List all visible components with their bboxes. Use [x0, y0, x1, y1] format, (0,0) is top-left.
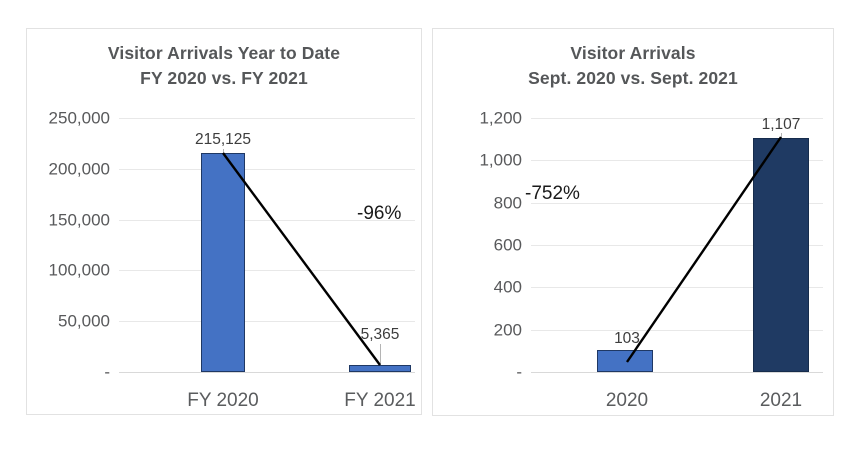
xtick-label-fy-2021: FY 2021	[344, 391, 415, 410]
ytick-label-200: 200	[494, 322, 522, 339]
axis-baseline-ytd	[119, 372, 415, 373]
axis-baseline-monthly	[531, 372, 823, 373]
chart-title-ytd: Visitor Arrivals Year to Date FY 2020 vs…	[27, 41, 421, 91]
xtick-label-2020: 2020	[606, 391, 648, 410]
xtick-label-fy-2020: FY 2020	[187, 391, 258, 410]
chart-panel-ytd: Visitor Arrivals Year to Date FY 2020 vs…	[26, 28, 422, 415]
xtick-label-2021: 2021	[760, 391, 802, 410]
ytick-label-800: 800	[494, 195, 522, 212]
bar-fy-2020[interactable]	[201, 153, 245, 372]
ytick-label-200000: 200,000	[49, 161, 110, 178]
gridline-250000	[119, 118, 415, 119]
ytick-label-1200: 1,200	[479, 110, 522, 127]
ytick-label-600: 600	[494, 237, 522, 254]
chart-title-ytd-line2: FY 2020 vs. FY 2021	[27, 66, 421, 91]
bar-value-label-sept-2021: 1,107	[762, 117, 801, 133]
percent-change-callout-monthly: -752%	[525, 184, 580, 203]
plot-area-ytd: 250,000 200,000 150,000 100,000 50,000 -…	[119, 118, 415, 372]
chart-panel-monthly: Visitor Arrivals Sept. 2020 vs. Sept. 20…	[432, 28, 834, 416]
ytick-label-400: 400	[494, 279, 522, 296]
percent-change-callout-ytd: -96%	[357, 204, 401, 223]
gridline-50000	[119, 321, 415, 322]
leader-line-fy-2020	[223, 149, 224, 154]
bar-fy-2021[interactable]	[349, 365, 411, 372]
chart-title-monthly: Visitor Arrivals Sept. 2020 vs. Sept. 20…	[433, 41, 833, 91]
ytick-label-150000: 150,000	[49, 212, 110, 229]
ytick-label-250000: 250,000	[49, 110, 110, 127]
ytick-label-1000: 1,000	[479, 152, 522, 169]
plot-area-monthly: 1,200 1,000 800 600 400 200 - 103 1,107 …	[531, 118, 823, 372]
chart-title-monthly-line2: Sept. 2020 vs. Sept. 2021	[433, 66, 833, 91]
bar-sept-2021[interactable]	[753, 138, 809, 372]
bar-sept-2020[interactable]	[597, 350, 653, 372]
gridline-100000	[119, 270, 415, 271]
ytick-label-50000: 50,000	[58, 313, 110, 330]
bar-value-label-sept-2020: 103	[614, 331, 640, 347]
bar-value-label-fy-2021: 5,365	[361, 327, 400, 343]
ytick-label-zero-monthly: -	[516, 364, 522, 381]
figure-canvas: Visitor Arrivals Year to Date FY 2020 vs…	[0, 0, 856, 453]
bar-value-label-fy-2020: 215,125	[195, 132, 251, 148]
leader-line-fy-2021	[380, 344, 381, 365]
ytick-label-100000: 100,000	[49, 262, 110, 279]
gridline-200000	[119, 169, 415, 170]
leader-line-sept-2021	[781, 133, 782, 138]
chart-title-ytd-line1: Visitor Arrivals Year to Date	[108, 43, 340, 63]
chart-title-monthly-line1: Visitor Arrivals	[570, 43, 695, 63]
ytick-label-zero: -	[104, 364, 110, 381]
